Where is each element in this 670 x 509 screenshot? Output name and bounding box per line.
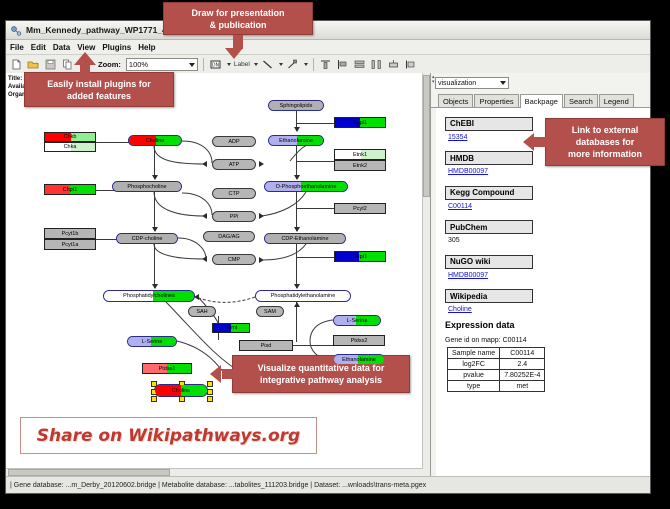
backpage-link[interactable]: C00114 xyxy=(448,203,650,210)
gene-node[interactable]: Ptdss2 xyxy=(333,335,385,346)
menu-help[interactable]: Help xyxy=(138,43,155,52)
metabolite-node[interactable]: Choline xyxy=(128,135,182,146)
cofactor-node[interactable]: ADP xyxy=(212,136,256,147)
backpage-section-header: Wikipedia xyxy=(445,289,533,303)
callout-link-line3: more information xyxy=(568,148,642,160)
distribute-icon[interactable] xyxy=(370,58,384,72)
gene-node[interactable]: Chkb xyxy=(44,132,96,142)
menu-view[interactable]: View xyxy=(77,43,95,52)
gene-node[interactable]: Ptdss1 xyxy=(142,363,192,374)
svg-text:DN: DN xyxy=(212,63,220,69)
menu-plugins[interactable]: Plugins xyxy=(102,43,131,52)
callout-plugins-line2: added features xyxy=(67,90,131,102)
edge-arrow xyxy=(259,161,264,167)
gene-id-note: Gene id on mapp: C00114 xyxy=(445,337,650,344)
chevron-down-icon[interactable] xyxy=(227,63,231,66)
toolbar-separator xyxy=(313,58,314,71)
node-label: Chkb xyxy=(64,134,77,140)
backpage-section-header: ChEBI xyxy=(445,117,533,131)
zoom-label: Zoom: xyxy=(98,60,121,69)
edge-arrow xyxy=(202,213,207,219)
callout-plugins-stem xyxy=(80,64,90,74)
tab-properties[interactable]: Properties xyxy=(474,94,518,107)
edge-arrow xyxy=(294,227,300,232)
node-label: PPi xyxy=(230,214,239,220)
gene-node[interactable]: Pcyt1b xyxy=(44,228,96,239)
callout-link-line2: databases for xyxy=(576,136,635,148)
callout-link: Link to external databases for more info… xyxy=(545,118,665,166)
node-label: Pcyt2 xyxy=(353,206,367,212)
copy-icon[interactable] xyxy=(60,58,74,72)
chevron-down-icon xyxy=(500,81,506,85)
backpage-section-header: HMDB xyxy=(445,151,533,165)
menu-data[interactable]: Data xyxy=(53,43,70,52)
anchor-line-icon[interactable] xyxy=(286,58,300,72)
callout-visualize-line2: integrative pathway analysis xyxy=(260,374,382,386)
share-banner-text: Share on Wikipathways.org xyxy=(37,426,300,446)
gene-node[interactable]: Pcyt2 xyxy=(334,203,386,214)
visualization-value: visualization xyxy=(438,80,476,87)
metabolite-node[interactable]: Phosphatidylethanolamine xyxy=(255,290,351,302)
node-label: CMP xyxy=(228,257,240,263)
scroll-thumb[interactable] xyxy=(8,469,170,476)
node-label: ADP xyxy=(228,139,239,145)
selection-handle[interactable] xyxy=(151,396,157,402)
edge-arrow xyxy=(202,256,207,262)
node-label: Pcyt1b xyxy=(62,231,79,237)
metabolite-node[interactable]: L-Serine xyxy=(127,336,177,347)
gene-node[interactable]: Pcyt1a xyxy=(44,239,96,250)
node-label: Etnk1 xyxy=(353,152,367,158)
backpage-value: 305 xyxy=(448,237,650,244)
table-row: Sample nameC00114 xyxy=(448,348,545,359)
title-bar: Mm_Kennedy_pathway_WP1771_45176.gpml xyxy=(6,21,650,40)
backpage-link[interactable]: Choline xyxy=(448,306,650,313)
table-cell: pvalue xyxy=(448,370,500,381)
cofactor-node[interactable]: PPi xyxy=(212,211,256,222)
gene-node[interactable]: Etnk1 xyxy=(334,149,386,160)
metabolite-node[interactable]: Choline xyxy=(154,384,208,397)
node-label: CDP-choline xyxy=(132,236,163,242)
metabolite-node[interactable]: Ethanolamine xyxy=(333,354,385,365)
node-label: Ethanolamine xyxy=(279,138,313,144)
callout-draw-line2: & publication xyxy=(210,19,267,31)
order-icon[interactable] xyxy=(404,58,418,72)
metabolite-node[interactable]: Phosphocholine xyxy=(112,181,182,192)
scroll-thumb[interactable] xyxy=(423,75,430,197)
edge xyxy=(296,257,334,258)
node-label: O-Phosphoethanolamine xyxy=(276,184,337,190)
gene-node[interactable]: Chka xyxy=(44,142,96,152)
share-banner: Share on Wikipathways.org xyxy=(20,417,317,454)
datanode-icon[interactable]: DN xyxy=(209,58,223,72)
group-icon[interactable] xyxy=(387,58,401,72)
node-label: Pcyt1a xyxy=(62,242,79,248)
node-label: Chpt1 xyxy=(63,187,78,193)
metabolite-node[interactable]: Phosphatidylcholines xyxy=(103,290,195,302)
backpage-section-header: PubChem xyxy=(445,220,533,234)
edge-arrow xyxy=(259,213,264,219)
node-label: Phosphocholine xyxy=(127,184,166,190)
metabolite-node[interactable]: L-Serine xyxy=(333,315,381,326)
cofactor-node[interactable]: CTP xyxy=(212,188,256,199)
tab-search[interactable]: Search xyxy=(564,94,598,107)
toolbar-separator xyxy=(203,58,204,71)
menu-bar: File Edit Data View Plugins Help xyxy=(6,40,650,55)
table-cell: C00114 xyxy=(500,348,545,359)
chevron-down-icon xyxy=(189,63,195,67)
label-tool-text[interactable]: Label xyxy=(234,61,250,68)
cofactor-node[interactable]: CMP xyxy=(212,254,256,265)
callout-draw-stem xyxy=(233,35,243,49)
callout-draw: Draw for presentation & publication xyxy=(163,2,313,35)
gene-node[interactable]: Pisd xyxy=(239,340,293,351)
edge-arrow xyxy=(202,161,207,167)
gene-node[interactable]: Pemt xyxy=(212,323,250,333)
callout-link-arrow xyxy=(523,133,534,151)
metabolite-node[interactable]: O-Phosphoethanolamine xyxy=(264,181,348,192)
edge-arrow xyxy=(294,302,300,307)
callout-plugins-arrow xyxy=(74,52,96,65)
node-label: Etnk2 xyxy=(353,163,367,169)
tab-legend[interactable]: Legend xyxy=(599,94,634,107)
selection-handle[interactable] xyxy=(179,396,185,402)
callout-visualize-arrow xyxy=(210,365,221,383)
table-cell: 2.4 xyxy=(500,359,545,370)
canvas-vscrollbar[interactable] xyxy=(422,73,430,476)
cofactor-node[interactable]: DAG/AG xyxy=(203,231,255,242)
expression-data-title: Expression data xyxy=(445,320,650,330)
gene-node[interactable]: Cept1 xyxy=(334,251,386,262)
edge-arrow xyxy=(259,257,264,263)
backpage-link[interactable]: HMDB00097 xyxy=(448,168,650,175)
edge xyxy=(293,345,333,346)
line-icon[interactable] xyxy=(261,58,275,72)
side-panel-tabs: ▴▾ Objects Properties Backpage Search Le… xyxy=(431,93,650,108)
metabolite-node[interactable]: CDP-Ethanolamine xyxy=(264,233,346,244)
chevron-down-icon[interactable] xyxy=(279,63,283,66)
table-cell: Sample name xyxy=(448,348,500,359)
node-label: Sgpl1 xyxy=(353,120,367,126)
menu-file[interactable]: File xyxy=(10,43,24,52)
edge xyxy=(296,208,334,209)
node-label: Cept1 xyxy=(353,254,368,260)
tab-scroll-icon[interactable]: ▴▾ xyxy=(432,75,435,85)
edge-arrow xyxy=(294,127,300,132)
node-label: Choline xyxy=(146,138,165,144)
pathvisio-icon xyxy=(10,24,22,36)
callout-plugins: Easily install plugins for added feature… xyxy=(24,72,174,107)
gene-node[interactable]: Etnk2 xyxy=(334,160,386,171)
gene-node[interactable]: Chpt1 xyxy=(44,184,96,195)
metabolite-node[interactable]: Ethanolamine xyxy=(268,135,324,146)
edge xyxy=(296,123,334,124)
pathway-canvas[interactable]: Title: Availa Organi xyxy=(6,73,431,476)
node-label: Ptdss2 xyxy=(351,338,368,344)
align-top-icon[interactable] xyxy=(319,58,333,72)
edge xyxy=(296,192,297,231)
gene-node[interactable]: Sgpl1 xyxy=(334,117,386,128)
node-label: ATP xyxy=(229,162,239,168)
canvas-hscrollbar[interactable] xyxy=(6,468,423,476)
edge xyxy=(296,161,334,162)
node-label: Pisd xyxy=(261,343,272,349)
node-label: Pemt xyxy=(225,325,238,331)
screenshot-root: Mm_Kennedy_pathway_WP1771_45176.gpml Fil… xyxy=(0,0,670,509)
edge xyxy=(296,302,297,342)
backpage-section-header: NuGO wiki xyxy=(445,255,533,269)
status-bar: | Gene database: ...m_Derby_20120602.bri… xyxy=(6,476,650,493)
open-folder-icon[interactable] xyxy=(26,58,40,72)
table-cell: met xyxy=(500,381,545,392)
callout-plugins-line1: Easily install plugins for xyxy=(47,78,151,90)
save-icon[interactable] xyxy=(43,58,57,72)
node-label: Phosphatidylcholines xyxy=(123,293,175,299)
menu-edit[interactable]: Edit xyxy=(31,43,46,52)
backpage-link[interactable]: HMDB00097 xyxy=(448,272,650,279)
node-label: L-Serine xyxy=(347,318,368,324)
callout-draw-line1: Draw for presentation xyxy=(191,7,284,19)
node-label: Ethanolamine xyxy=(342,357,376,363)
cofactor-node[interactable]: SAH xyxy=(188,306,216,317)
visualization-combo[interactable]: visualization xyxy=(435,77,509,89)
node-label: SAH xyxy=(196,309,207,315)
node-label: Phosphatidylethanolamine xyxy=(271,293,336,299)
edge xyxy=(296,244,297,288)
cofactor-node[interactable]: ATP xyxy=(212,159,256,170)
visualization-bar: visualization xyxy=(431,73,650,93)
metabolite-node[interactable]: Sphingolipids xyxy=(268,100,324,111)
callout-link-line1: Link to external xyxy=(572,124,639,136)
tab-backpage[interactable]: Backpage xyxy=(520,94,563,108)
node-label: DAG/AG xyxy=(218,234,239,240)
tab-objects[interactable]: Objects xyxy=(438,94,473,107)
stack-icon[interactable] xyxy=(353,58,367,72)
node-label: Choline xyxy=(172,388,191,394)
table-row: log2FC2.4 xyxy=(448,359,545,370)
node-label: SAM xyxy=(264,309,276,315)
expression-table: Sample nameC00114log2FC2.4pvalue7.80252E… xyxy=(447,347,545,392)
new-file-icon[interactable] xyxy=(9,58,23,72)
edge-arrow xyxy=(294,284,300,289)
chevron-down-icon[interactable] xyxy=(254,63,258,66)
cofactor-node[interactable]: SAM xyxy=(256,306,284,317)
table-cell: 7.80252E-4 xyxy=(500,370,545,381)
chevron-down-icon[interactable] xyxy=(304,63,308,66)
table-cell: type xyxy=(448,381,500,392)
backpage-section-header: Kegg Compound xyxy=(445,186,533,200)
table-cell: log2FC xyxy=(448,359,500,370)
table-row: pvalue7.80252E-4 xyxy=(448,370,545,381)
node-label: Sphingolipids xyxy=(280,103,313,109)
metabolite-node[interactable]: CDP-choline xyxy=(116,233,178,244)
node-label: CTP xyxy=(229,191,240,197)
callout-draw-arrow xyxy=(225,48,243,59)
table-row: typemet xyxy=(448,381,545,392)
zoom-combo[interactable]: 100% xyxy=(126,58,198,71)
zoom-value: 100% xyxy=(129,60,148,69)
callout-visualize-stem xyxy=(222,369,234,379)
selection-handle[interactable] xyxy=(207,396,213,402)
align-left-icon[interactable] xyxy=(336,58,350,72)
edge-arrow xyxy=(294,175,300,180)
callout-link-stem xyxy=(534,137,546,147)
node-label: CDP-Ethanolamine xyxy=(281,236,328,242)
node-label: Ptdss1 xyxy=(159,366,176,372)
node-label: Chka xyxy=(64,144,77,150)
status-text: | Gene database: ...m_Derby_20120602.bri… xyxy=(10,482,426,489)
node-label: L-Serine xyxy=(142,339,163,345)
selection-handle[interactable] xyxy=(207,389,213,395)
